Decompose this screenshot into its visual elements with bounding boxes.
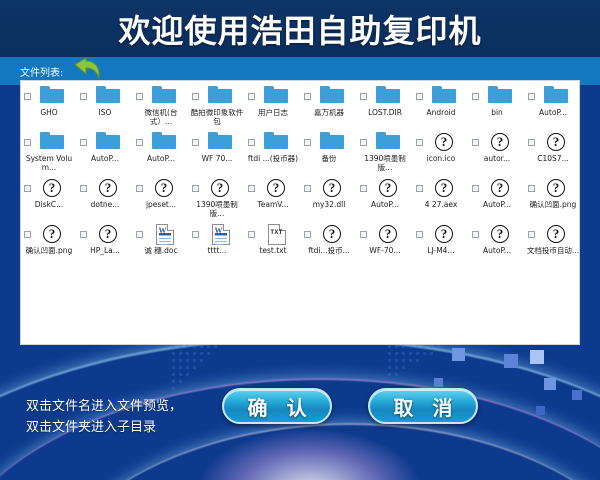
- file-name-label: test.txt: [246, 247, 300, 256]
- file-select-checkbox[interactable]: [24, 185, 31, 192]
- file-icon-row: [80, 132, 130, 154]
- file-item[interactable]: ?确认凹面.png: [21, 221, 77, 267]
- file-icon-row: [360, 132, 410, 154]
- file-item[interactable]: ?WF-70...: [357, 221, 413, 267]
- file-item[interactable]: ?dotne...: [77, 175, 133, 221]
- decorative-square: [452, 348, 465, 361]
- folder-icon: [40, 132, 64, 150]
- file-item[interactable]: ?HP_La...: [77, 221, 133, 267]
- file-select-checkbox[interactable]: [304, 93, 311, 100]
- decorative-square: [530, 350, 544, 364]
- decorative-square: [504, 354, 518, 368]
- file-item[interactable]: ftdi ...(投币器): [245, 129, 301, 175]
- file-select-checkbox[interactable]: [472, 231, 479, 238]
- file-name-label: tttt...: [190, 247, 244, 256]
- file-name-label: ftdi...投币...: [302, 247, 356, 256]
- file-icon-row: [528, 86, 578, 108]
- file-item[interactable]: ?AutoP...: [469, 175, 525, 221]
- file-icon-row: ?: [24, 178, 74, 200]
- unknown-file-icon: ?: [322, 178, 342, 198]
- file-item[interactable]: W诚 穗.doc: [133, 221, 189, 267]
- file-name-label: AutoP...: [78, 155, 132, 164]
- file-icon-row: ?: [80, 224, 130, 246]
- text-file-icon: TXT: [268, 224, 286, 245]
- file-icon-row: [304, 86, 354, 108]
- file-name-label: 嘉万机器: [302, 109, 356, 118]
- unknown-file-icon: ?: [98, 224, 118, 244]
- file-icon-row: ?: [416, 224, 466, 246]
- folder-icon: [208, 132, 232, 150]
- confirm-button[interactable]: 确 认: [222, 388, 332, 424]
- file-select-checkbox[interactable]: [24, 139, 31, 146]
- unknown-file-icon: ?: [434, 132, 454, 152]
- folder-icon: [488, 86, 512, 104]
- file-item[interactable]: GHO: [21, 83, 77, 129]
- unknown-file-icon: ?: [490, 224, 510, 244]
- file-name-label: GHO: [22, 109, 76, 118]
- file-item[interactable]: ?AutoP...: [357, 175, 413, 221]
- unknown-file-icon: ?: [42, 178, 62, 198]
- file-item[interactable]: ?LJ-M4...: [413, 221, 469, 267]
- file-select-checkbox[interactable]: [136, 231, 143, 238]
- file-name-label: LOST.DIR: [358, 109, 412, 118]
- file-name-label: 确认凹面.png: [526, 201, 580, 210]
- decorative-square: [536, 406, 545, 415]
- file-item[interactable]: System Volum...: [21, 129, 77, 175]
- file-name-label: 1390喷墨制版...: [358, 155, 412, 172]
- file-item[interactable]: ?jpeset...: [133, 175, 189, 221]
- file-item[interactable]: ?C10S7...: [525, 129, 580, 175]
- folder-icon: [96, 132, 120, 150]
- file-select-checkbox[interactable]: [304, 185, 311, 192]
- file-select-checkbox[interactable]: [360, 231, 367, 238]
- file-select-checkbox[interactable]: [416, 139, 423, 146]
- file-select-checkbox[interactable]: [192, 231, 199, 238]
- unknown-file-icon: ?: [210, 178, 230, 198]
- file-item[interactable]: Android: [413, 83, 469, 129]
- file-item[interactable]: 酷拍微印象软件包: [189, 83, 245, 129]
- folder-icon: [96, 86, 120, 104]
- file-name-label: bin: [470, 109, 524, 118]
- file-icon-row: ?: [24, 224, 74, 246]
- decorative-square: [544, 378, 556, 390]
- file-select-checkbox[interactable]: [80, 185, 87, 192]
- file-icon-row: ?: [528, 224, 578, 246]
- folder-icon: [152, 132, 176, 150]
- file-select-checkbox[interactable]: [80, 93, 87, 100]
- file-name-label: dotne...: [78, 201, 132, 210]
- file-item[interactable]: AutoP...: [133, 129, 189, 175]
- file-item[interactable]: ?4 27.aex: [413, 175, 469, 221]
- file-item[interactable]: TXTtest.txt: [245, 221, 301, 267]
- file-name-label: ftdi ...(投币器): [246, 155, 300, 164]
- file-name-label: 诚 穗.doc: [134, 247, 188, 256]
- file-select-checkbox[interactable]: [472, 139, 479, 146]
- file-select-checkbox[interactable]: [472, 185, 479, 192]
- file-item[interactable]: 嘉万机器: [301, 83, 357, 129]
- file-name-label: 文档投币自动...: [526, 247, 580, 256]
- file-select-checkbox[interactable]: [80, 139, 87, 146]
- file-icon-row: ?: [472, 132, 522, 154]
- unknown-file-icon: ?: [42, 224, 62, 244]
- file-select-checkbox[interactable]: [136, 93, 143, 100]
- file-name-label: 确认凹面.png: [22, 247, 76, 256]
- file-name-label: HP_La...: [78, 247, 132, 256]
- file-select-checkbox[interactable]: [360, 93, 367, 100]
- app-header: 欢迎使用浩田自助复印机: [0, 0, 600, 55]
- file-icon-row: ?: [528, 178, 578, 200]
- file-name-label: AutoP...: [526, 109, 580, 118]
- file-name-label: AutoP...: [470, 201, 524, 210]
- file-icon-row: [416, 86, 466, 108]
- file-select-checkbox[interactable]: [24, 231, 31, 238]
- file-select-checkbox[interactable]: [248, 231, 255, 238]
- file-name-label: autor...: [470, 155, 524, 164]
- file-select-checkbox[interactable]: [304, 231, 311, 238]
- file-icon-row: ?: [472, 224, 522, 246]
- file-icon-row: [192, 86, 242, 108]
- unknown-file-icon: ?: [434, 224, 454, 244]
- file-select-checkbox[interactable]: [248, 139, 255, 146]
- file-select-checkbox[interactable]: [24, 93, 31, 100]
- file-item[interactable]: 1390喷墨制版...: [357, 129, 413, 175]
- file-icon-row: ?: [416, 178, 466, 200]
- file-icon-row: W: [136, 224, 186, 246]
- file-select-checkbox[interactable]: [528, 185, 535, 192]
- file-icon-row: ?: [248, 178, 298, 200]
- file-icon-row: [24, 86, 74, 108]
- file-icon-row: ?: [360, 178, 410, 200]
- file-select-checkbox[interactable]: [528, 93, 535, 100]
- file-name-label: Android: [414, 109, 468, 118]
- file-item[interactable]: ?AutoP...: [469, 221, 525, 267]
- unknown-file-icon: ?: [154, 178, 174, 198]
- file-name-label: 1390喷墨制版...: [190, 201, 244, 218]
- folder-icon: [376, 132, 400, 150]
- folder-icon: [40, 86, 64, 104]
- folder-icon: [208, 86, 232, 104]
- file-icon-row: ?: [192, 178, 242, 200]
- file-icon-row: ?: [360, 224, 410, 246]
- file-name-label: C10S7...: [526, 155, 580, 164]
- file-icon-row: [304, 132, 354, 154]
- file-item[interactable]: Wtttt...: [189, 221, 245, 267]
- file-item[interactable]: ?ftdi...投币...: [301, 221, 357, 267]
- unknown-file-icon: ?: [546, 132, 566, 152]
- folder-icon: [264, 86, 288, 104]
- file-item[interactable]: ?TeamV...: [245, 175, 301, 221]
- file-item[interactable]: bin: [469, 83, 525, 129]
- file-item[interactable]: ?1390喷墨制版...: [189, 175, 245, 221]
- folder-icon: [264, 132, 288, 150]
- file-item[interactable]: ?文档投币自动...: [525, 221, 580, 267]
- file-item[interactable]: ?my32.dll: [301, 175, 357, 221]
- cancel-button[interactable]: 取 消: [368, 388, 478, 424]
- file-select-checkbox[interactable]: [528, 231, 535, 238]
- file-select-checkbox[interactable]: [192, 139, 199, 146]
- file-icon-row: [192, 132, 242, 154]
- cancel-button-label: 取 消: [388, 392, 459, 421]
- file-name-label: TeamV...: [246, 201, 300, 210]
- file-select-checkbox[interactable]: [136, 185, 143, 192]
- unknown-file-icon: ?: [546, 224, 566, 244]
- folder-icon: [320, 132, 344, 150]
- file-name-label: 备份: [302, 155, 356, 164]
- file-icon-row: ?: [304, 224, 354, 246]
- file-select-checkbox[interactable]: [248, 93, 255, 100]
- file-icon-row: ?: [472, 178, 522, 200]
- word-doc-icon: W: [212, 224, 230, 245]
- file-select-checkbox[interactable]: [80, 231, 87, 238]
- file-icon-row: [80, 86, 130, 108]
- file-name-label: 微信机(台式）...: [134, 109, 188, 126]
- folder-icon: [376, 86, 400, 104]
- file-item[interactable]: 微信机(台式）...: [133, 83, 189, 129]
- file-name-label: AutoP...: [358, 201, 412, 210]
- folder-icon: [544, 86, 568, 104]
- file-select-checkbox[interactable]: [248, 185, 255, 192]
- file-select-checkbox[interactable]: [136, 139, 143, 146]
- file-name-label: my32.dll: [302, 201, 356, 210]
- file-icon-row: [472, 86, 522, 108]
- file-icon-row: [248, 132, 298, 154]
- file-grid: GHOISO微信机(台式）...酷拍微印象软件包用户日志嘉万机器LOST.DIR…: [21, 83, 580, 267]
- file-name-label: 4 27.aex: [414, 201, 468, 210]
- page-title: 欢迎使用浩田自助复印机: [0, 6, 600, 52]
- file-icon-row: ?: [528, 132, 578, 154]
- folder-icon: [152, 86, 176, 104]
- decorative-square: [572, 390, 582, 400]
- file-item[interactable]: 用户日志: [245, 83, 301, 129]
- file-item[interactable]: AutoP...: [525, 83, 580, 129]
- file-select-checkbox[interactable]: [192, 93, 199, 100]
- file-icon-row: [360, 86, 410, 108]
- unknown-file-icon: ?: [378, 178, 398, 198]
- file-list-label: 文件列表:: [20, 64, 63, 79]
- file-select-checkbox[interactable]: [192, 185, 199, 192]
- file-item[interactable]: ISO: [77, 83, 133, 129]
- file-name-label: DiskC...: [22, 201, 76, 210]
- decorative-square: [434, 378, 443, 387]
- copier-kiosk-screen: 欢迎使用浩田自助复印机 文件列表: GHOISO微信机(台式）...酷拍微印象软…: [0, 0, 600, 480]
- file-name-label: WF 70...: [190, 155, 244, 164]
- file-name-label: 用户日志: [246, 109, 300, 118]
- unknown-file-icon: ?: [546, 178, 566, 198]
- unknown-file-icon: ?: [490, 132, 510, 152]
- folder-icon: [432, 86, 456, 104]
- file-name-label: AutoP...: [470, 247, 524, 256]
- file-select-checkbox[interactable]: [416, 93, 423, 100]
- file-name-label: LJ-M4...: [414, 247, 468, 256]
- unknown-file-icon: ?: [490, 178, 510, 198]
- folder-icon: [320, 86, 344, 104]
- file-icon-row: TXT: [248, 224, 298, 246]
- file-select-checkbox[interactable]: [528, 139, 535, 146]
- unknown-file-icon: ?: [378, 224, 398, 244]
- file-name-label: WF-70...: [358, 247, 412, 256]
- unknown-file-icon: ?: [322, 224, 342, 244]
- file-item[interactable]: 备份: [301, 129, 357, 175]
- file-select-checkbox[interactable]: [360, 139, 367, 146]
- file-icon-row: [136, 132, 186, 154]
- file-icon-row: ?: [80, 178, 130, 200]
- file-item[interactable]: ?icon.ico: [413, 129, 469, 175]
- confirm-button-label: 确 认: [242, 392, 313, 421]
- file-icon-row: [24, 132, 74, 154]
- file-item[interactable]: AutoP...: [77, 129, 133, 175]
- file-name-label: AutoP...: [134, 155, 188, 164]
- file-item[interactable]: WF 70...: [189, 129, 245, 175]
- file-name-label: icon.ico: [414, 155, 468, 164]
- file-name-label: System Volum...: [22, 155, 76, 172]
- file-icon-row: [136, 86, 186, 108]
- file-icon-row: ?: [136, 178, 186, 200]
- file-name-label: 酷拍微印象软件包: [190, 109, 244, 126]
- word-doc-icon: W: [156, 224, 174, 245]
- file-icon-row: ?: [304, 178, 354, 200]
- unknown-file-icon: ?: [434, 178, 454, 198]
- file-icon-row: ?: [416, 132, 466, 154]
- file-name-label: jpeset...: [134, 201, 188, 210]
- file-select-checkbox[interactable]: [416, 185, 423, 192]
- file-select-checkbox[interactable]: [304, 139, 311, 146]
- file-item[interactable]: LOST.DIR: [357, 83, 413, 129]
- unknown-file-icon: ?: [266, 178, 286, 198]
- file-icon-row: [248, 86, 298, 108]
- file-select-checkbox[interactable]: [472, 93, 479, 100]
- file-item[interactable]: ?DiskC...: [21, 175, 77, 221]
- file-list-panel[interactable]: GHOISO微信机(台式）...酷拍微印象软件包用户日志嘉万机器LOST.DIR…: [20, 80, 580, 345]
- file-name-label: ISO: [78, 109, 132, 118]
- file-item[interactable]: ?autor...: [469, 129, 525, 175]
- file-icon-row: W: [192, 224, 242, 246]
- unknown-file-icon: ?: [98, 178, 118, 198]
- file-item[interactable]: ?确认凹面.png: [525, 175, 580, 221]
- file-select-checkbox[interactable]: [360, 185, 367, 192]
- file-select-checkbox[interactable]: [416, 231, 423, 238]
